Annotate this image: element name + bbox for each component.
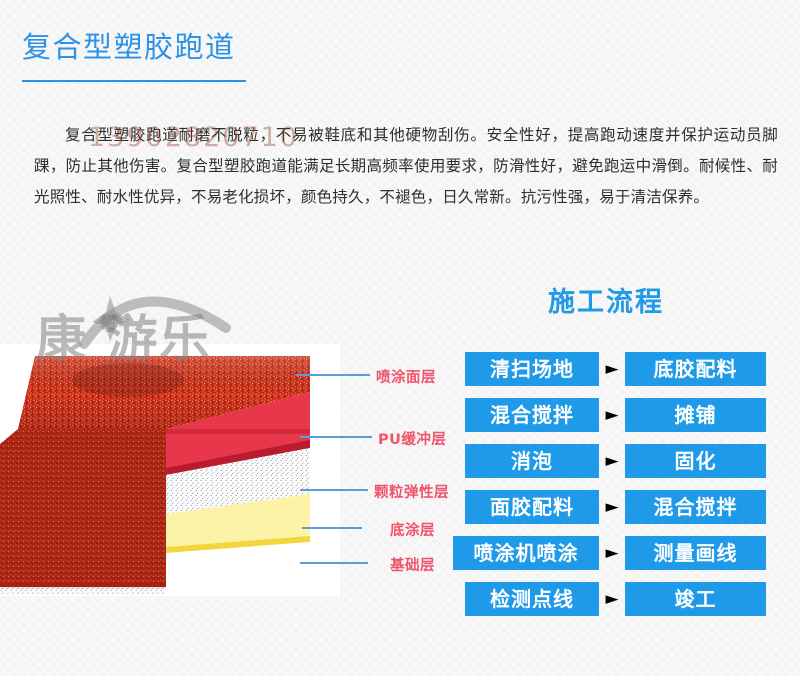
flow-arrow-icon: ► [599,398,625,432]
flow-step-defoaming[interactable]: 消泡 [465,444,599,478]
flow-step-inspect-points[interactable]: 检测点线 [465,582,599,616]
flow-step-mix-stir-2[interactable]: 混合搅拌 [625,490,766,524]
flow-row: 面胶配料 ► 混合搅拌 [465,490,775,524]
flow-step-clean-site[interactable]: 清扫场地 [465,352,599,386]
page-title: 复合型塑胶跑道 [22,33,236,62]
flow-row: 喷涂机喷涂 ► 测量画线 [465,536,775,570]
flow-step-paving[interactable]: 摊铺 [625,398,766,432]
leader-line-2 [300,436,372,438]
watermark-brand-mark: 攀 [100,310,119,336]
flow-row: 检测点线 ► 竣工 [465,582,775,616]
flow-row: 混合搅拌 ► 摊铺 [465,398,775,432]
layer-label-pu-cushion: PU缓冲层 [378,428,446,449]
track-cross-section-diagram [0,344,345,594]
construction-flow-grid: 清扫场地 ► 底胶配料 混合搅拌 ► 摊铺 消泡 ► 固化 面胶配料 ► 混合搅… [465,352,775,628]
flow-row: 清扫场地 ► 底胶配料 [465,352,775,386]
watermark-arc-icon [78,272,278,352]
flow-step-spray-machine[interactable]: 喷涂机喷涂 [453,536,599,570]
flow-arrow-icon: ► [599,536,625,570]
watermark-phone-number: 13902820710 [88,122,299,153]
flow-step-measure-marking[interactable]: 测量画线 [625,536,766,570]
flow-step-mix-stir-1[interactable]: 混合搅拌 [465,398,599,432]
layer-label-primer: 底涂层 [390,519,435,540]
flow-arrow-icon: ► [599,444,625,478]
leader-line-3 [300,489,368,491]
flow-arrow-icon: ► [599,490,625,524]
flow-step-curing[interactable]: 固化 [625,444,766,478]
flow-step-base-glue-mix[interactable]: 底胶配料 [625,352,766,386]
flow-arrow-icon: ► [599,582,625,616]
flow-section-title: 施工流程 [548,289,664,316]
title-underline-divider [22,80,246,82]
flow-arrow-icon: ► [599,352,625,386]
layer-label-granule-elastic: 颗粒弹性层 [374,481,449,502]
layer-label-foundation: 基础层 [390,554,435,575]
flow-step-completion[interactable]: 竣工 [625,582,766,616]
layer-label-surface: 喷涂面层 [376,366,436,387]
page-root: 复合型塑胶跑道 复合型塑胶跑道耐磨不脱粒，不易被鞋底和其他硬物刮伤。安全性好，提… [0,0,800,676]
flow-row: 消泡 ► 固化 [465,444,775,478]
leader-line-4 [302,527,362,529]
leader-line-1 [296,374,370,376]
leader-line-5 [300,562,368,564]
flow-step-surface-glue-mix[interactable]: 面胶配料 [465,490,599,524]
